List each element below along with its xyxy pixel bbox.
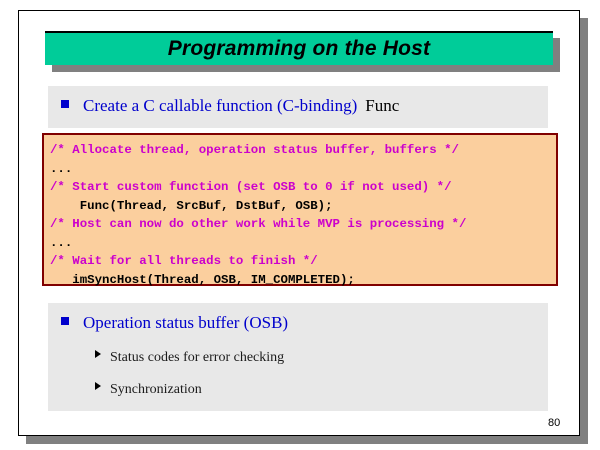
slide-root: Programming on the Host Create a C calla… — [0, 0, 600, 450]
page-number: 80 — [548, 417, 560, 429]
code-line: /* Allocate thread, operation status buf… — [50, 141, 556, 160]
bullet-label-operation-status-buffer: Operation status buffer (OSB) — [83, 313, 288, 333]
subbullet-label-synchronization: Synchronization — [110, 382, 202, 398]
code-line: ... — [50, 160, 556, 179]
subbullet-item-synchronization: Synchronization — [95, 382, 202, 398]
triangle-bullet-icon — [95, 350, 101, 358]
bullet-item-create-function: Create a C callable function (C-binding)… — [61, 96, 399, 116]
square-bullet-icon — [61, 100, 69, 108]
code-line: /* Wait for all threads to finish */ — [50, 252, 556, 271]
bullet-label-create-function: Create a C callable function (C-binding) — [83, 96, 357, 116]
code-block: /* Allocate thread, operation status buf… — [42, 133, 558, 286]
code-line: Func(Thread, SrcBuf, DstBuf, OSB); — [50, 197, 556, 216]
subbullet-item-status-codes: Status codes for error checking — [95, 350, 284, 366]
bullet-item-operation-status-buffer: Operation status buffer (OSB) — [61, 313, 288, 333]
triangle-bullet-icon — [95, 382, 101, 390]
subbullet-label-status-codes: Status codes for error checking — [110, 350, 284, 366]
code-line: /* Start custom function (set OSB to 0 i… — [50, 178, 556, 197]
code-line: ... — [50, 234, 556, 253]
slide-title: Programming on the Host — [168, 37, 430, 61]
title-banner: Programming on the Host — [45, 31, 553, 65]
code-line: imSyncHost(Thread, OSB, IM_COMPLETED); — [50, 271, 556, 290]
square-bullet-icon — [61, 317, 69, 325]
code-line: /* Host can now do other work while MVP … — [50, 215, 556, 234]
bullet-trailing-func: Func — [357, 96, 399, 116]
